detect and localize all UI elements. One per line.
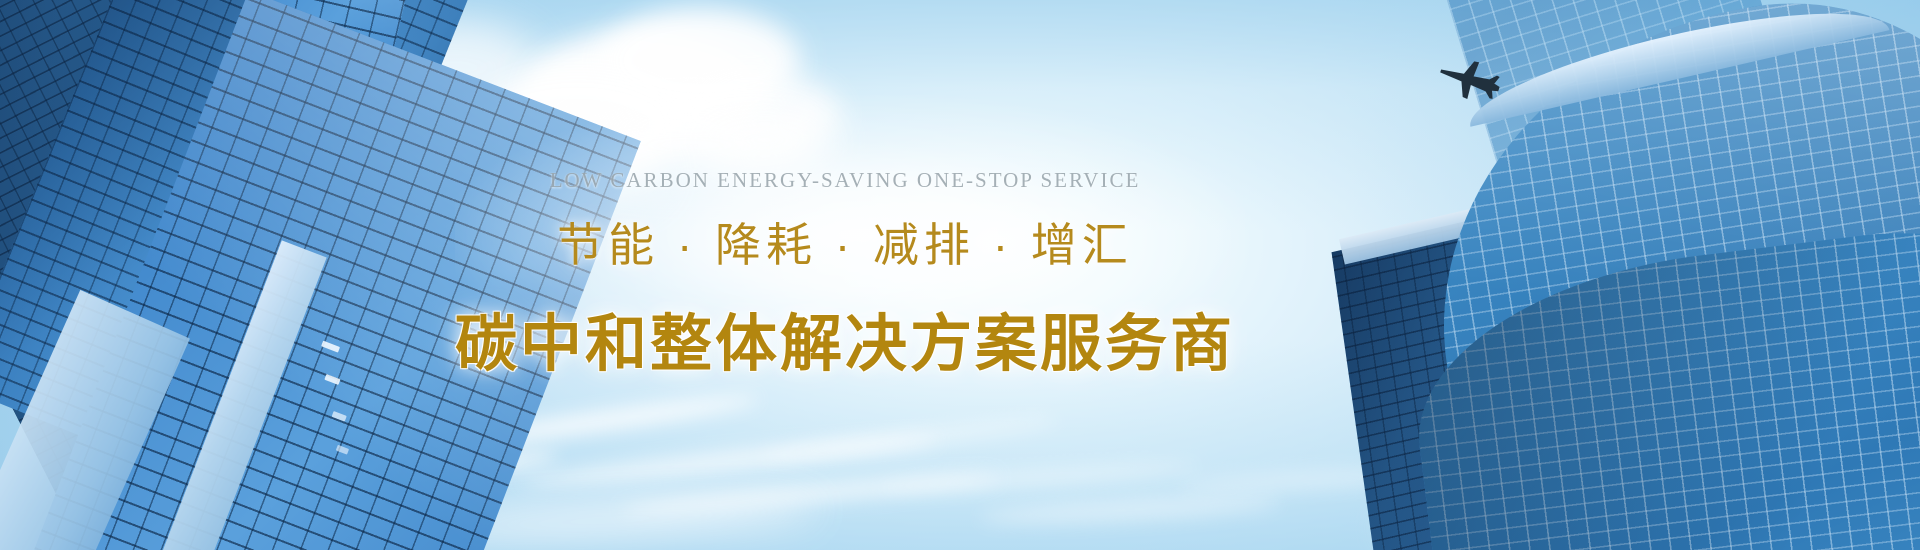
banner-text-block: LOW CARBON ENERGY-SAVING ONE-STOP SERVIC… [0,0,1690,550]
hero-banner: LOW CARBON ENERGY-SAVING ONE-STOP SERVIC… [0,0,1920,550]
headline-chinese: 碳中和整体解决方案服务商 [455,293,1235,383]
subtitle-chinese: 节能 · 降耗 · 减排 · 增汇 [557,209,1133,275]
tagline-english: LOW CARBON ENERGY-SAVING ONE-STOP SERVIC… [550,168,1141,193]
